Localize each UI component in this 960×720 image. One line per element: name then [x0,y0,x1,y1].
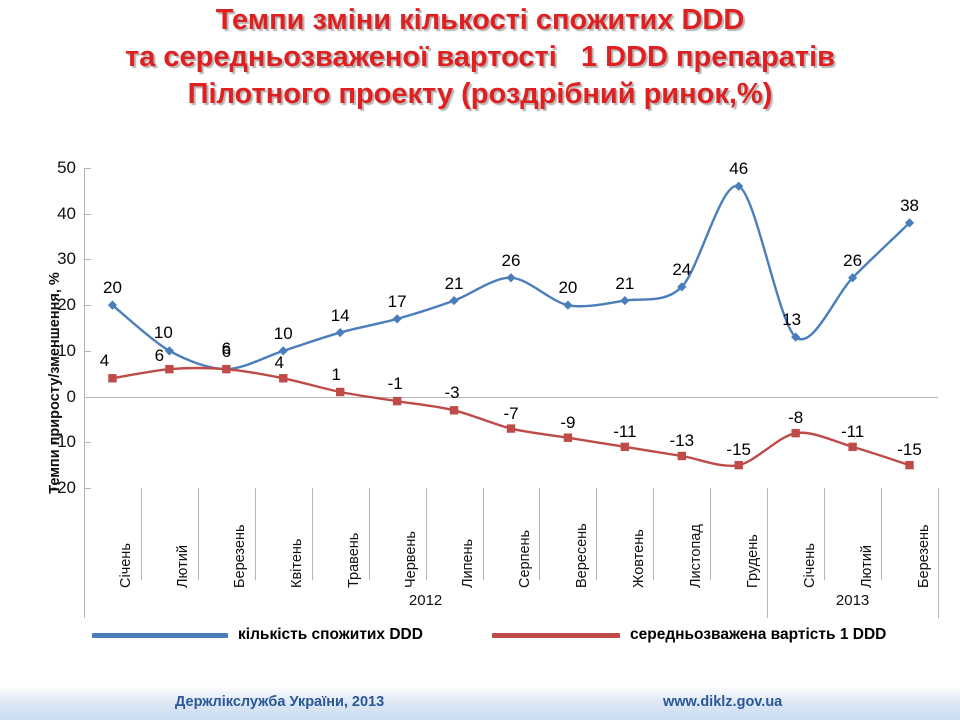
category-label: Квітень [289,539,305,588]
category-separator [596,488,597,580]
data-point-marker[interactable] [108,374,116,382]
footer-website-link[interactable]: www.diklz.gov.ua [663,694,782,710]
category-label: Липень [460,539,476,588]
chart-legend: кількість спожитих DDD середньозважена в… [0,620,960,656]
data-label: -11 [603,423,647,441]
data-label: -8 [774,409,818,427]
title-line-3: Пілотного проекту (роздрібний ринок,%) [0,76,960,113]
category-label: Вересень [574,523,590,588]
y-tick-40: 40 [38,205,76,222]
category-label: Січень [802,543,818,588]
data-point-marker[interactable] [563,301,572,310]
data-label: 6 [204,343,248,361]
category-separator [198,488,199,580]
data-label: 26 [831,252,875,270]
data-point-marker[interactable] [564,434,572,442]
chart-title: Темпи зміни кількості спожитих DDD та се… [0,2,960,113]
data-point-marker[interactable] [222,365,230,373]
category-separator [369,488,370,580]
data-label: 10 [141,324,185,342]
data-point-marker[interactable] [678,452,686,460]
category-label: Лютий [859,545,875,588]
data-label: 6 [137,347,181,365]
data-label: 20 [546,279,590,297]
data-label: 1 [314,366,358,384]
title-line-1: Темпи зміни кількості спожитих DDD [0,2,960,39]
data-point-marker[interactable] [507,424,515,432]
legend-label-ddd-cost: середньозважена вартість 1 DDD [630,626,886,644]
title-line-2: та середньозваженої вартості 1 DDD препа… [0,39,960,76]
y-tick-20: 20 [38,296,76,313]
category-label: Січень [118,543,134,588]
data-label: -1 [373,375,417,393]
category-separator [483,488,484,580]
data-label: 21 [603,275,647,293]
category-label: Грудень [745,534,761,588]
data-point-marker[interactable] [621,443,629,451]
data-point-marker[interactable] [393,397,401,405]
data-label: 21 [432,275,476,293]
data-label: 38 [888,197,932,215]
data-point-marker[interactable] [165,365,173,373]
category-separator [539,488,540,580]
category-separator [255,488,256,580]
y-tick-10: 10 [38,342,76,359]
data-point-marker[interactable] [905,461,913,469]
data-label: 24 [660,261,704,279]
data-label: 4 [82,352,126,370]
series-plot: 2010610141721262021244613263846641-1-3-7… [84,168,938,488]
data-label: -7 [489,405,533,423]
y-tick-0: 0 [38,388,76,405]
legend-item-ddd-quantity[interactable]: кількість спожитих DDD [92,620,423,650]
data-point-marker[interactable] [393,314,402,323]
year-group-label: 2012 [84,592,767,609]
data-label: -15 [717,441,761,459]
data-point-marker[interactable] [336,388,344,396]
year-group-separator [767,488,768,618]
data-label: 13 [770,311,814,329]
data-point-marker[interactable] [735,461,743,469]
data-label: 4 [257,354,301,372]
legend-swatch-blue [92,633,228,638]
data-point-marker[interactable] [791,429,799,437]
footer-bar: Держлікслужба України, 2013 www.diklz.go… [0,686,960,720]
category-label: Лютий [175,545,191,588]
year-group-label: 2013 [767,592,938,609]
data-label: 20 [90,279,134,297]
category-separator [710,488,711,580]
category-label: Листопад [688,524,704,588]
data-label: -15 [888,441,932,459]
category-label: Березень [916,524,932,588]
data-point-marker[interactable] [620,296,629,305]
data-label: -3 [430,384,474,402]
data-label: 26 [489,252,533,270]
chart-plot-region: Темпи приросту/зменшення, % 50403020100-… [0,150,960,620]
y-tick-30: 30 [38,250,76,267]
data-label: 10 [261,325,305,343]
category-separator [653,488,654,580]
data-label: 46 [717,160,761,178]
category-label: Червень [403,531,419,588]
category-separator [141,488,142,580]
category-separator [312,488,313,580]
category-label: Серпень [517,530,533,588]
year-group-separator [84,488,85,618]
category-separator [426,488,427,580]
data-point-marker[interactable] [450,406,458,414]
legend-label-ddd-quantity: кількість спожитих DDD [238,626,423,644]
y-axis-tick-labels: 50403020100-10-20 [36,150,76,620]
data-point-marker[interactable] [848,443,856,451]
footer-organization: Держлікслужба України, 2013 [175,694,384,710]
y-tick--10: -10 [38,433,76,450]
data-point-marker[interactable] [279,374,287,382]
data-label: 17 [375,293,419,311]
data-label: -9 [546,414,590,432]
data-point-marker[interactable] [506,273,515,282]
data-label: -13 [660,432,704,450]
category-label: Жовтень [631,529,647,588]
data-point-marker[interactable] [336,328,345,337]
category-separator [881,488,882,580]
category-label: Березень [232,524,248,588]
category-separator [824,488,825,580]
year-group-separator [938,488,939,618]
category-axis: СіченьЛютийБерезеньКвітеньТравеньЧервень… [84,488,938,620]
legend-swatch-red [492,633,620,638]
category-label: Травень [346,533,362,588]
y-tick-50: 50 [38,159,76,176]
data-label: 14 [318,307,362,325]
y-tick--20: -20 [38,479,76,496]
legend-item-ddd-cost[interactable]: середньозважена вартість 1 DDD [492,620,886,650]
data-label: -11 [831,423,875,441]
data-point-marker[interactable] [449,296,458,305]
